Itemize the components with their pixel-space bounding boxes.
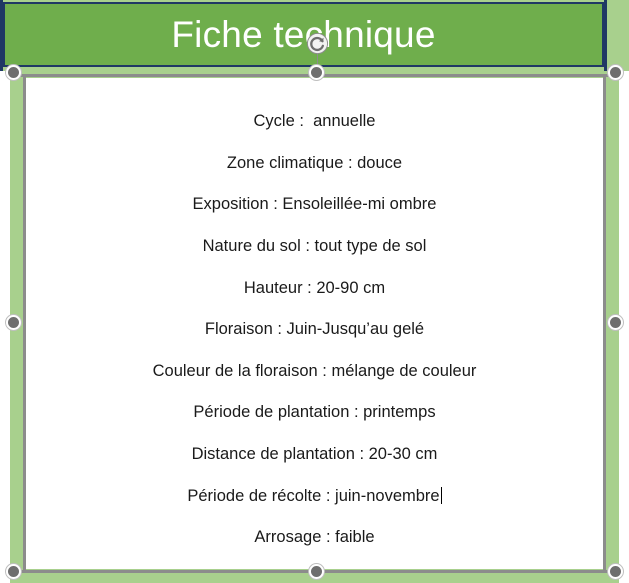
datasheet-line: Période de plantation : printemps [26,403,603,421]
datasheet-line: Nature du sol : tout type de sol [26,237,603,255]
datasheet-line: Exposition : Ensoleillée-mi ombre [26,195,603,213]
document-canvas: Fiche technique Cycle : annuelle Zone cl… [0,0,629,583]
page-title: Fiche technique [171,16,435,53]
handle-top-left[interactable] [6,65,21,80]
handle-middle-left[interactable] [6,315,21,330]
datasheet-line: Arrosage : faible [26,528,603,546]
datasheet-line: Période de récolte : juin-novembre [187,487,439,505]
header-title-box[interactable]: Fiche technique [3,2,604,67]
datasheet-line: Cycle : annuelle [26,112,603,130]
handle-bottom-right[interactable] [608,564,623,579]
document-right-edge [604,0,607,71]
text-frame-content[interactable]: Cycle : annuelle Zone climatique : douce… [26,79,603,569]
handle-middle-right[interactable] [608,315,623,330]
handle-bottom-left[interactable] [6,564,21,579]
datasheet-line: Zone climatique : douce [26,154,603,172]
datasheet-line: Couleur de la floraison : mélange de cou… [26,362,603,380]
datasheet-line: Distance de plantation : 20-30 cm [26,445,603,463]
rotate-icon[interactable] [306,32,329,55]
datasheet-line-with-caret: Période de récolte : juin-novembre [26,487,603,505]
text-caret [441,487,442,504]
handle-top-center[interactable] [309,65,324,80]
datasheet-line: Hauteur : 20-90 cm [26,279,603,297]
handle-bottom-center[interactable] [309,564,324,579]
datasheet-line: Floraison : Juin-Jusqu’au gelé [26,320,603,338]
handle-top-right[interactable] [608,65,623,80]
selection-outline-right [603,74,606,573]
